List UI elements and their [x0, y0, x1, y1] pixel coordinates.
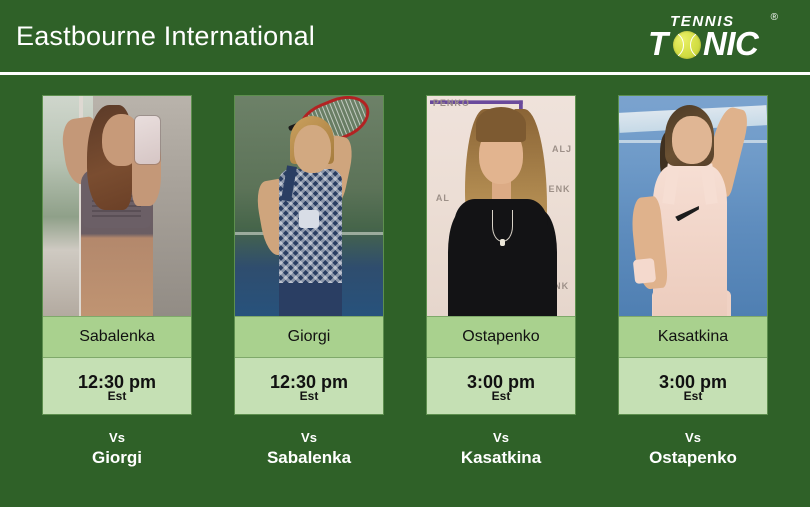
opponent-name: Ostapenko [618, 447, 768, 469]
logo-main-wordmark: T NIC [648, 28, 780, 62]
logo-letter-t: T [648, 28, 668, 60]
player-card[interactable]: Kasatkina 3:00 pm Est [618, 95, 768, 415]
opponent-block: Vs Giorgi [42, 429, 192, 469]
opponent-name: Kasatkina [426, 447, 576, 469]
match-card-2[interactable]: Giorgi 12:30 pm Est Vs Sabalenka [234, 95, 384, 469]
player-name: Kasatkina [619, 316, 767, 358]
player-photo-sabalenka [43, 96, 191, 316]
match-card-3[interactable]: PENKO ALJ AL Y ENK PENK [426, 95, 576, 469]
opponent-block: Vs Sabalenka [234, 429, 384, 469]
backdrop-text-2: ALJ [552, 144, 572, 154]
player-card[interactable]: PENKO ALJ AL Y ENK PENK [426, 95, 576, 415]
match-timezone: Est [300, 390, 319, 403]
player-card[interactable]: Giorgi 12:30 pm Est [234, 95, 384, 415]
match-timezone: Est [684, 390, 703, 403]
opponent-block: Vs Ostapenko [618, 429, 768, 469]
registered-trademark-icon: ® [771, 13, 778, 23]
match-card-1[interactable]: Sabalenka 12:30 pm Est Vs Giorgi [42, 95, 192, 469]
player-photo-kasatkina [619, 96, 767, 316]
player-photo-ostapenko: PENKO ALJ AL Y ENK PENK [427, 96, 575, 316]
opponent-name: Sabalenka [234, 447, 384, 469]
backdrop-text-1: PENKO [433, 98, 470, 108]
tennis-ball-icon [673, 31, 701, 59]
match-time-block: 12:30 pm Est [235, 358, 383, 414]
vs-label: Vs [234, 429, 384, 447]
player-card[interactable]: Sabalenka 12:30 pm Est [42, 95, 192, 415]
vs-label: Vs [426, 429, 576, 447]
page-header: Eastbourne International TENNIS ® T NIC [0, 0, 810, 72]
match-card-4[interactable]: Kasatkina 3:00 pm Est Vs Ostapenko [618, 95, 768, 469]
player-name: Sabalenka [43, 316, 191, 358]
vs-label: Vs [42, 429, 192, 447]
matches-section: Sabalenka 12:30 pm Est Vs Giorgi [0, 75, 810, 507]
match-time-block: 3:00 pm Est [619, 358, 767, 414]
opponent-block: Vs Kasatkina [426, 429, 576, 469]
match-cards-row: Sabalenka 12:30 pm Est Vs Giorgi [0, 95, 810, 469]
logo-letters-nic: NIC [703, 28, 758, 60]
match-time-block: 3:00 pm Est [427, 358, 575, 414]
vs-label: Vs [618, 429, 768, 447]
tennis-tonic-logo[interactable]: TENNIS ® T NIC [648, 8, 780, 64]
match-time-block: 12:30 pm Est [43, 358, 191, 414]
match-timezone: Est [492, 390, 511, 403]
player-name: Ostapenko [427, 316, 575, 358]
opponent-name: Giorgi [42, 447, 192, 469]
player-name: Giorgi [235, 316, 383, 358]
match-timezone: Est [108, 390, 127, 403]
player-photo-giorgi [235, 96, 383, 316]
page-title: Eastbourne International [16, 23, 315, 50]
backdrop-text-3: AL [436, 193, 450, 203]
